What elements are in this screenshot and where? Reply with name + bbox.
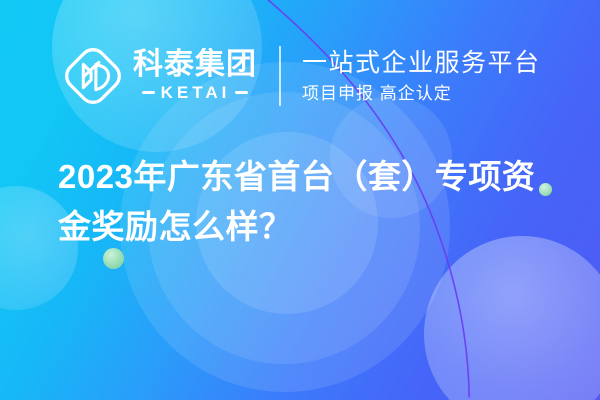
wordmark-rule-right (235, 91, 248, 94)
ketai-diamond-monogram-icon (62, 45, 124, 107)
decor-circle-bottom-right (424, 236, 600, 400)
headline-title: 2023年广东省首台（套）专项资金奖励怎么样？ (58, 152, 558, 252)
promo-banner: 科泰集团 KETAI 一站式企业服务平台 项目申报 高企认定 2023年广东省首… (0, 0, 600, 400)
slogan-block: 一站式企业服务平台 项目申报 高企认定 (302, 48, 541, 104)
wordmark-rule-left (142, 91, 155, 94)
brand-name-en: KETAI (161, 83, 231, 103)
header-divider (279, 46, 281, 106)
brand-name-en-row: KETAI (133, 83, 257, 103)
brand-wordmark: 科泰集团 KETAI (133, 49, 257, 102)
brand-name-cn: 科泰集团 (133, 49, 257, 80)
slogan-primary: 一站式企业服务平台 (302, 48, 541, 78)
slogan-secondary: 项目申报 高企认定 (302, 84, 541, 104)
brand-logo: 科泰集团 KETAI (62, 45, 257, 107)
banner-header: 科泰集团 KETAI 一站式企业服务平台 项目申报 高企认定 (62, 40, 541, 112)
